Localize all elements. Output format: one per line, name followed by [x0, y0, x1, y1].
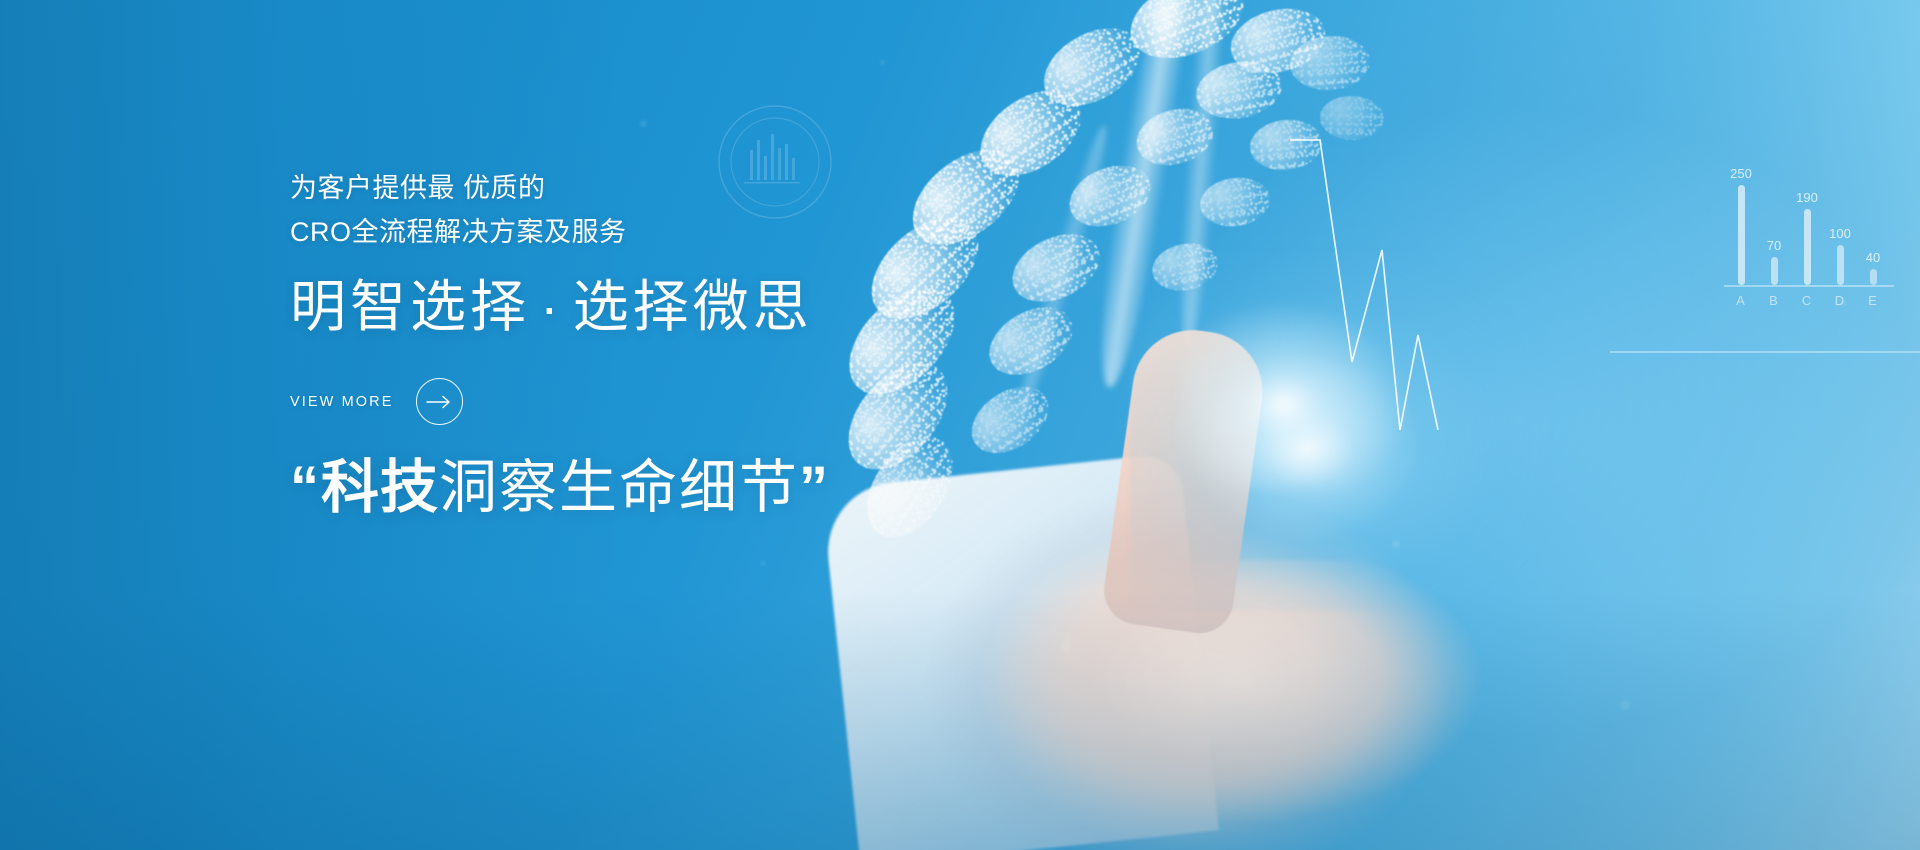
- hero-subtitle-line-1: 为客户提供最 优质的: [290, 173, 546, 203]
- bar-value-A: 250: [1730, 166, 1752, 181]
- bar-value-C: 190: [1796, 190, 1818, 205]
- headline-part-2: 选择微思: [573, 275, 813, 338]
- bar-value-D: 100: [1829, 226, 1851, 241]
- bar-category-A: A: [1736, 293, 1746, 308]
- bar-chart-svg: 250 70 190 100 40 A B C D E: [1716, 160, 1906, 320]
- hero-headline: 明智选择·选择微思: [290, 272, 813, 342]
- headline-part-1: 明智选择: [290, 275, 530, 338]
- bar-value-E: 40: [1866, 250, 1880, 265]
- bar-value-B: 70: [1767, 238, 1781, 253]
- view-more-label: VIEW MORE: [290, 394, 394, 410]
- bar-A: [1738, 185, 1745, 285]
- arrow-right-icon[interactable]: [416, 378, 463, 425]
- hero-subtitle: 为客户提供最 优质的 CRO全流程解决方案及服务: [290, 166, 627, 254]
- bar-category-E: E: [1868, 293, 1878, 308]
- index-finger: [1100, 322, 1270, 637]
- bar-C: [1804, 209, 1811, 285]
- quote-light-text: 洞察生命细节: [439, 455, 799, 520]
- bar-B: [1771, 257, 1778, 285]
- bar-category-B: B: [1769, 293, 1779, 308]
- quote-strong-text: 科技: [321, 455, 439, 520]
- quote-open-mark: “: [290, 455, 321, 520]
- bar-E: [1870, 269, 1877, 285]
- hero-content: 为客户提供最 优质的 CRO全流程解决方案及服务 明智选择·选择微思 VIEW …: [290, 0, 1050, 850]
- bokeh-dot: [1620, 700, 1630, 710]
- headline-separator: ·: [530, 275, 573, 338]
- bokeh-dot: [1392, 540, 1400, 548]
- hero-quote: “科技洞察生命细节”: [290, 450, 830, 526]
- quote-close-mark: ”: [799, 455, 830, 520]
- bokeh-dot: [1060, 640, 1071, 651]
- hero-banner: 250 70 190 100 40 A B C D E 为客户提供最 优质的 C…: [0, 0, 1920, 850]
- hero-subtitle-line-2: CRO全流程解决方案及服务: [290, 210, 627, 254]
- bar-D: [1837, 245, 1844, 285]
- bar-chart: 250 70 190 100 40 A B C D E: [1716, 160, 1906, 320]
- view-more-button[interactable]: VIEW MORE: [290, 378, 463, 425]
- hand-lower-shape: [980, 560, 1540, 850]
- bar-category-C: C: [1802, 293, 1812, 308]
- bar-category-D: D: [1835, 293, 1845, 308]
